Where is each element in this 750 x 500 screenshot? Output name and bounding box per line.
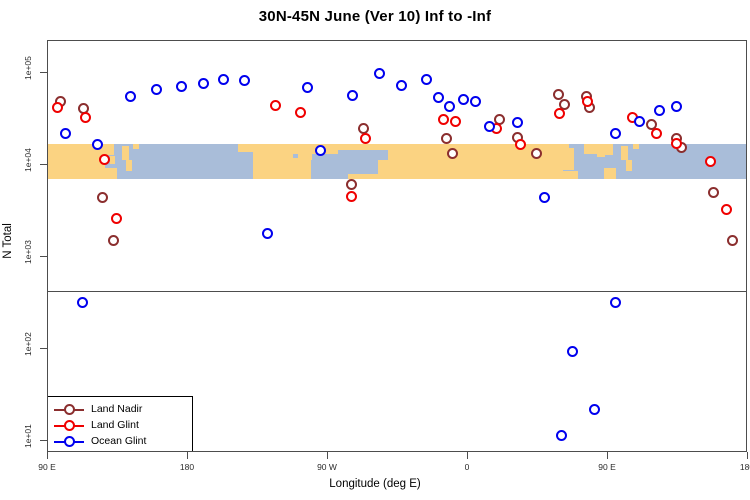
map-land-patch	[604, 168, 616, 179]
x-axis-tick-label: 180	[180, 462, 194, 472]
x-axis-tick	[467, 452, 468, 459]
legend-label: Land Glint	[84, 419, 139, 431]
data-point	[651, 128, 662, 139]
data-point	[125, 91, 136, 102]
x-axis-tick	[607, 452, 608, 459]
data-point	[470, 96, 481, 107]
map-land-patch	[553, 144, 569, 152]
data-point	[727, 235, 738, 246]
data-point	[77, 297, 88, 308]
y-axis-tick-label: 1e+01	[23, 432, 33, 448]
y-axis-tick	[40, 72, 47, 73]
plot-area: Land NadirLand GlintOcean Glint	[47, 40, 747, 452]
data-point	[589, 404, 600, 415]
data-point	[554, 108, 565, 119]
x-axis-tick-label: 90 W	[317, 462, 337, 472]
data-point	[108, 235, 119, 246]
data-point	[60, 128, 71, 139]
x-axis-tick-label: 180	[740, 462, 750, 472]
data-point	[239, 75, 250, 86]
y-axis-tick-label: 1e+02	[23, 340, 33, 356]
data-point	[151, 84, 162, 95]
legend-marker-ocean-icon	[54, 436, 84, 447]
data-point	[198, 78, 209, 89]
data-point	[671, 101, 682, 112]
data-point	[567, 346, 578, 357]
y-axis-label-text: N Total	[2, 206, 14, 276]
data-point	[176, 81, 187, 92]
y-axis-tick-label: 1e+04	[23, 156, 33, 172]
map-land-patch	[122, 146, 129, 160]
data-point	[671, 138, 682, 149]
data-point	[302, 82, 313, 93]
data-point	[556, 430, 567, 441]
data-point	[346, 191, 357, 202]
data-point	[458, 94, 469, 105]
y-axis-tick-label: 1e+05	[23, 64, 33, 80]
y-axis-tick-label: 1e+03	[23, 248, 33, 264]
data-point	[450, 116, 461, 127]
panel-divider-line	[48, 291, 747, 292]
x-axis-tick	[187, 452, 188, 459]
data-point	[433, 92, 444, 103]
data-point	[295, 107, 306, 118]
x-axis-tick	[47, 452, 48, 459]
data-point	[347, 90, 358, 101]
data-point	[52, 102, 63, 113]
map-land-patch	[253, 154, 293, 179]
map-land-patch	[538, 171, 578, 179]
data-point	[111, 213, 122, 224]
data-point	[531, 148, 542, 159]
data-point	[270, 100, 281, 111]
legend-item-ocean[interactable]: Ocean Glint	[48, 433, 192, 449]
chart-canvas: 30N-45N June (Ver 10) Inf to -Inf Land N…	[0, 0, 750, 500]
legend-marker-glint-icon	[54, 420, 84, 431]
map-land-patch	[348, 174, 398, 179]
map-land-patch	[603, 144, 613, 155]
data-point	[447, 148, 458, 159]
x-axis-tick	[327, 452, 328, 459]
map-land-patch	[584, 144, 598, 154]
map-land-patch	[621, 146, 628, 160]
map-land-patch	[126, 160, 132, 171]
y-axis-tick	[40, 440, 47, 441]
map-land-patch	[626, 160, 632, 171]
data-point	[539, 192, 550, 203]
data-point	[438, 114, 449, 125]
data-point	[374, 68, 385, 79]
data-point	[360, 133, 371, 144]
data-point	[421, 74, 432, 85]
chart-title: 30N-45N June (Ver 10) Inf to -Inf	[0, 8, 750, 25]
map-land-patch	[406, 144, 466, 179]
data-point	[262, 228, 273, 239]
legend-item-nadir[interactable]: Land Nadir	[48, 401, 192, 417]
x-axis-tick-label: 90 E	[598, 462, 616, 472]
legend-item-glint[interactable]: Land Glint	[48, 417, 192, 433]
data-point	[721, 204, 732, 215]
map-land-patch	[110, 156, 115, 164]
data-point	[708, 187, 719, 198]
y-axis-tick	[40, 348, 47, 349]
data-point	[634, 116, 645, 127]
x-axis-tick	[747, 452, 748, 459]
data-point	[218, 74, 229, 85]
y-axis-tick	[40, 164, 47, 165]
data-point	[610, 128, 621, 139]
map-land-patch	[480, 144, 520, 157]
map-land-patch	[293, 158, 311, 179]
x-axis-tick-label: 90 E	[38, 462, 56, 472]
data-point	[99, 154, 110, 165]
data-point	[97, 192, 108, 203]
legend-marker-nadir-icon	[54, 404, 84, 415]
map-land-patch	[133, 144, 139, 149]
data-point	[441, 133, 452, 144]
map-land-patch	[633, 144, 639, 149]
data-point	[396, 80, 407, 91]
legend-label: Ocean Glint	[84, 435, 146, 447]
world-map-band	[48, 144, 747, 179]
data-point	[444, 101, 455, 112]
x-axis-label: Longitude (deg E)	[0, 478, 750, 490]
data-point	[80, 112, 91, 123]
data-point	[610, 297, 621, 308]
y-axis-label: N Total	[0, 0, 13, 500]
map-land-patch	[298, 154, 312, 160]
map-land-patch	[238, 144, 256, 152]
data-point	[512, 117, 523, 128]
y-axis-tick	[40, 256, 47, 257]
legend: Land NadirLand GlintOcean Glint	[47, 396, 193, 452]
data-point	[654, 105, 665, 116]
map-land-patch	[105, 168, 117, 179]
x-axis-tick-label: 0	[465, 462, 470, 472]
legend-label: Land Nadir	[84, 403, 142, 415]
data-point	[346, 179, 357, 190]
data-point	[315, 145, 326, 156]
